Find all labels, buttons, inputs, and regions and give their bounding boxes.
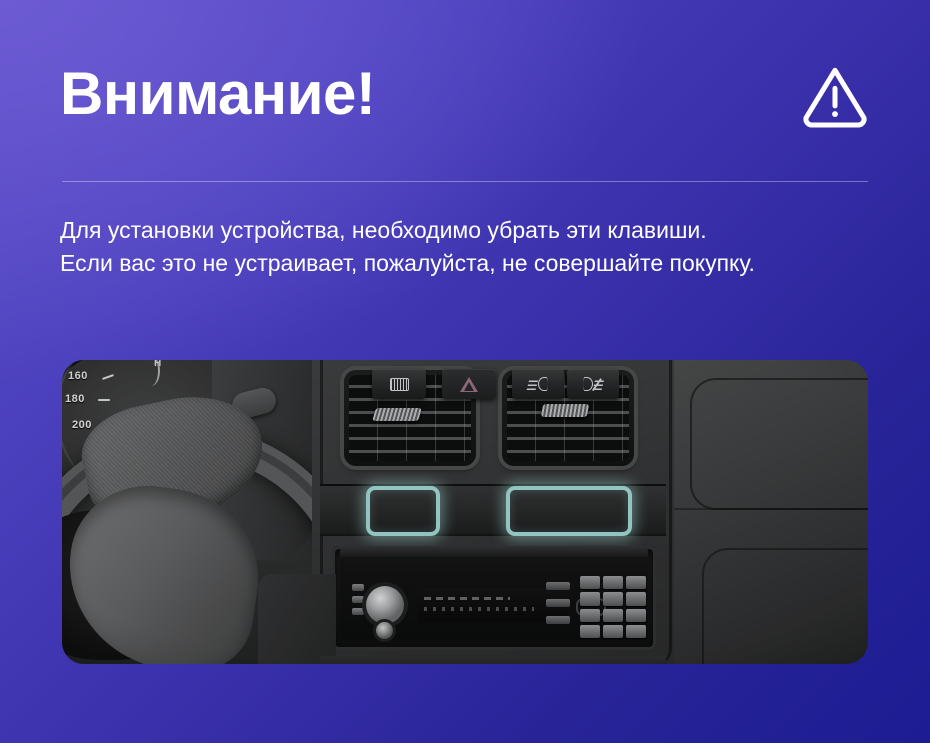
air-vent-direction-tab [541,404,589,417]
dashboard-photo-inner: km/h 140 160 180 200 H C ▼ [62,360,868,664]
speed-mark-160: 160 [68,370,88,382]
console-left-panel [258,574,336,664]
speed-mark-180: 180 [65,393,85,405]
banner-body: Для установки устройства, необходимо убр… [60,214,860,280]
radio-side-buttons[interactable] [352,584,364,632]
car-radio[interactable] [332,546,656,650]
passenger-panel-seam-lower [702,548,868,664]
radio-top-lip [340,548,648,557]
fog-lamp-front-icon [528,377,548,391]
hazard-triangle-icon [460,377,478,392]
dashboard-photo: km/h 140 160 180 200 H C ▼ [62,360,868,664]
radio-faceplate [340,558,648,640]
console-lower-tray [320,656,666,664]
temp-mark-hot: H [154,360,161,369]
body-line-1: Для установки устройства, необходимо убр… [60,214,860,247]
passenger-panel-seam-upper [690,378,868,510]
front-fog-light-button[interactable] [512,369,564,399]
radio-mid-buttons[interactable] [546,582,570,636]
warning-banner: Внимание! Для установки устройства, необ… [0,0,930,743]
warning-triangle-icon [800,63,870,129]
air-vent-direction-tab [372,408,422,421]
header-divider [62,181,868,182]
passenger-panel-seam-mid [667,508,868,510]
banner-header: Внимание! [60,48,870,144]
gauge-tick [98,399,110,401]
radio-preset-buttons[interactable] [580,576,646,638]
hazard-lights-button[interactable] [442,369,496,399]
page-title: Внимание! [60,64,375,124]
radio-secondary-knob[interactable] [376,622,393,639]
fog-lamp-rear-icon [583,377,603,391]
defogger-icon [390,378,409,391]
rear-defogger-button[interactable] [372,369,426,399]
dashboard-switch-strip [320,484,666,536]
rear-fog-light-button[interactable] [567,369,619,399]
speed-mark-200: 200 [72,419,92,431]
radio-volume-knob[interactable] [366,586,404,624]
body-line-2: Если вас это не устраивает, пожалуйста, … [60,247,860,280]
